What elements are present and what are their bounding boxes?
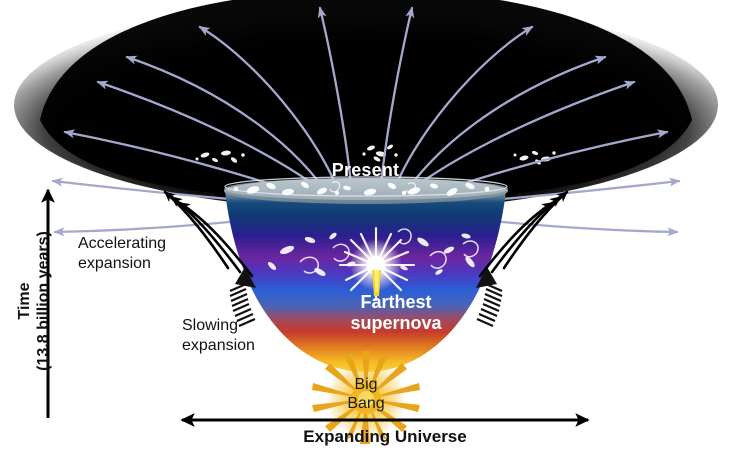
accelerating-arrow-right-1: [504, 192, 567, 268]
present-label: Present: [0, 160, 731, 181]
big-bang-label: Big Bang: [306, 375, 426, 413]
expanding-universe-label: Expanding Universe: [160, 427, 610, 447]
figure-canvas: Present Farthest supernova Big Bang Expa…: [0, 0, 731, 461]
time-axis-label: Time(13.8 billion years): [15, 191, 53, 411]
time-axis-label-line1: Time: [16, 282, 33, 319]
time-axis-label-line2: (13.8 billion years): [35, 231, 52, 371]
slowing-expansion-label: Slowing expansion: [182, 316, 362, 356]
accelerating-expansion-label: Accelerating expansion: [78, 234, 258, 274]
